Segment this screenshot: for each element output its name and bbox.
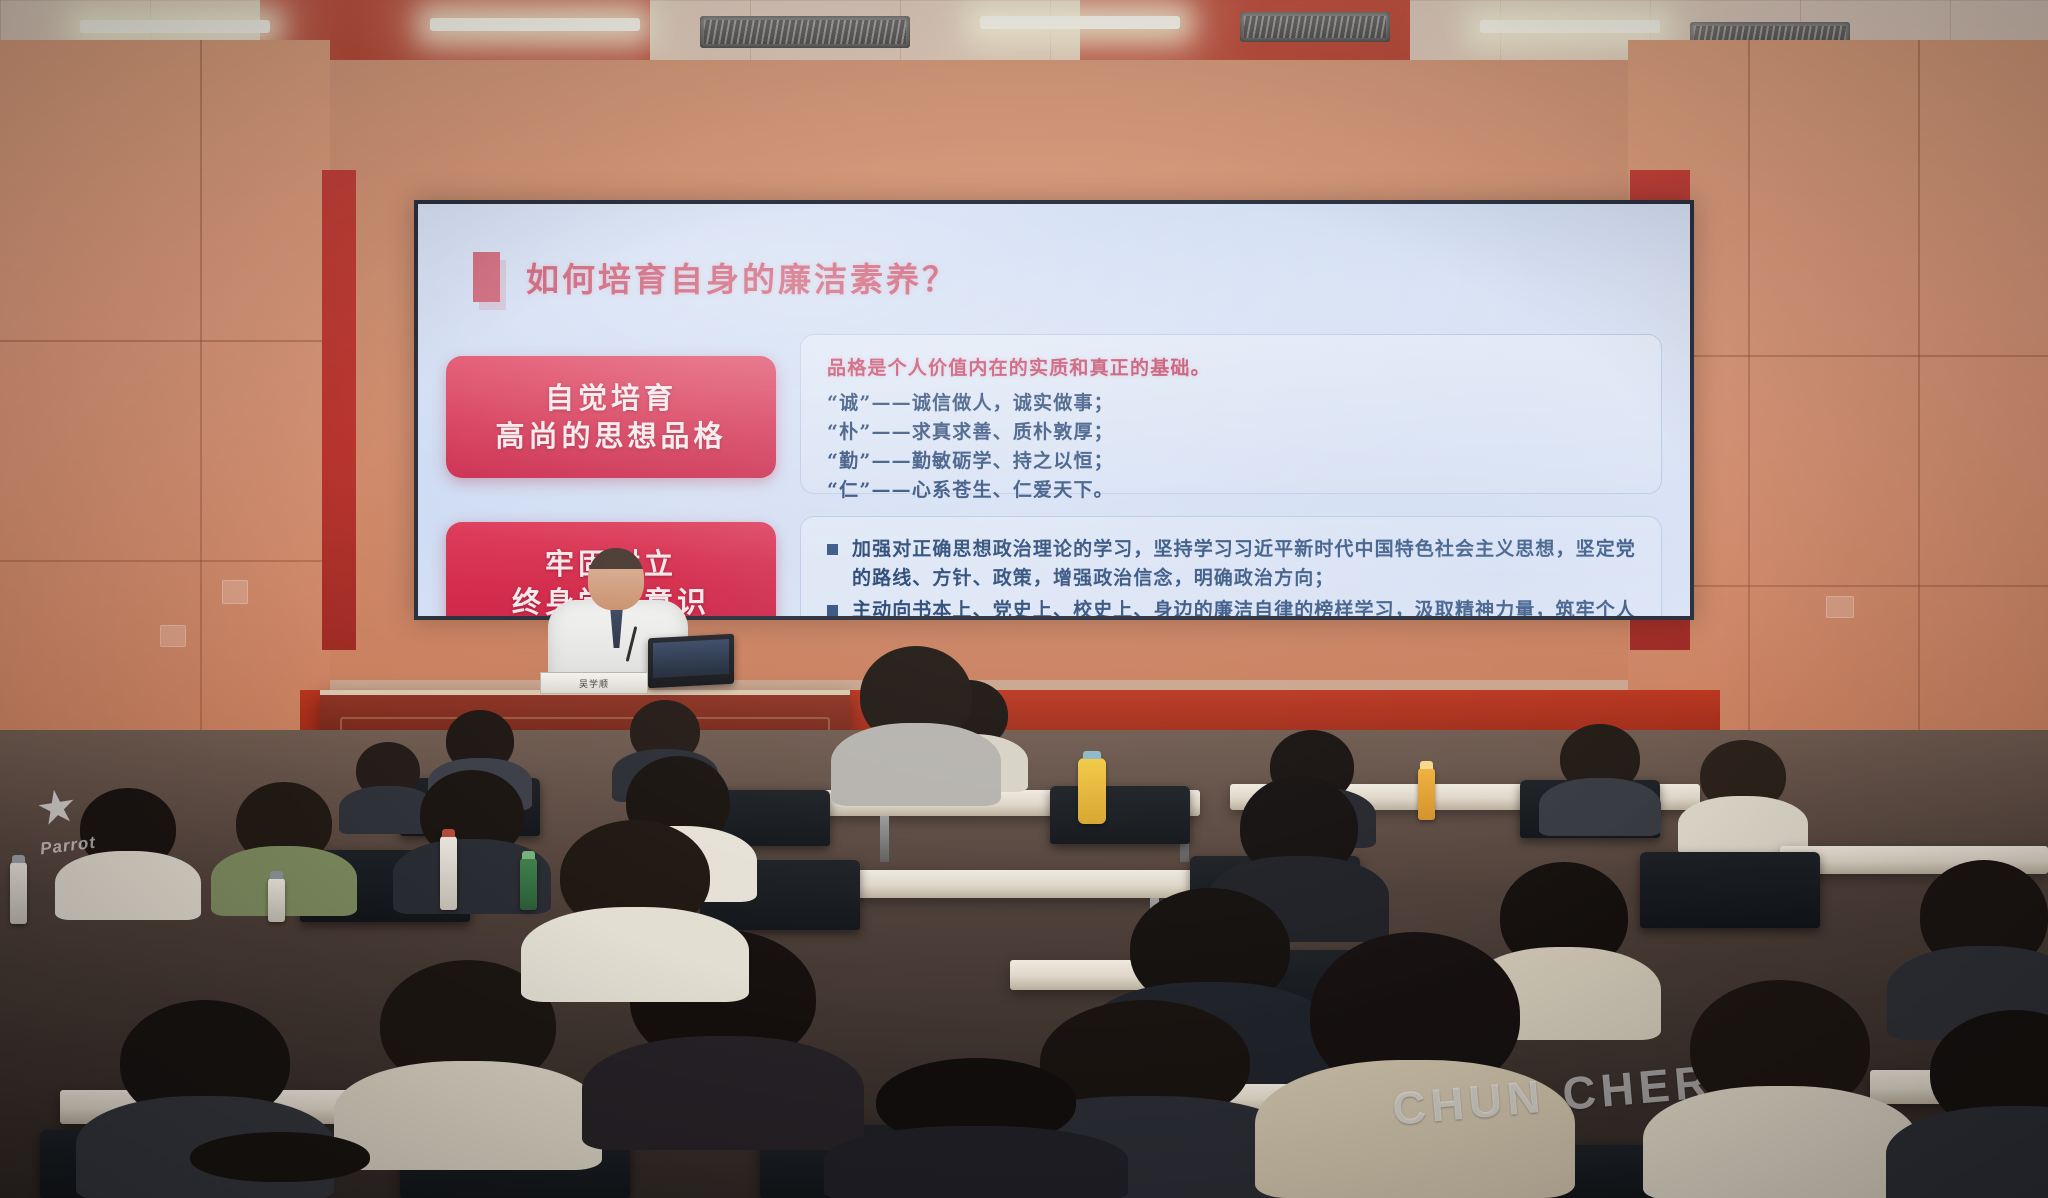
bottle-cap — [270, 871, 283, 879]
water-bottle — [440, 836, 457, 910]
wall-outlet — [1826, 596, 1854, 618]
water-bottle — [520, 858, 537, 910]
chip-1-line-2: 高尚的思想品格 — [495, 417, 726, 455]
person-shoulders — [1539, 778, 1661, 836]
audience-person — [356, 742, 420, 834]
slide-title: 如何培育自身的廉洁素养？ — [526, 253, 958, 301]
wall-seam — [0, 340, 330, 342]
audience-person — [190, 1132, 370, 1198]
ceiling-vent-icon — [1240, 12, 1390, 42]
water-bottle — [1078, 758, 1106, 824]
laptop-icon — [648, 634, 734, 689]
card-1-line: “仁”——心系苍生、仁爱天下。 — [827, 476, 1639, 505]
slide-card-bullets: 加强对正确思想政治理论的学习，坚持学习习近平新时代中国特色社会主义思想，坚定党的… — [800, 516, 1662, 616]
bottle-cap — [1420, 761, 1433, 769]
slide-bullet-text: 加强对正确思想政治理论的学习，坚持学习习近平新时代中国特色社会主义思想，坚定党的… — [852, 535, 1639, 592]
person-shoulders — [831, 723, 1001, 806]
audience-person — [1310, 932, 1520, 1198]
slide-bullet: 加强对正确思想政治理论的学习，坚持学习习近平新时代中国特色社会主义思想，坚定党的… — [827, 535, 1639, 592]
ceiling-light — [430, 18, 640, 31]
left-wall — [0, 40, 330, 740]
speaker-head — [588, 548, 644, 610]
audience-person — [860, 646, 972, 806]
chip-1-line-1: 自觉培育 — [545, 379, 677, 417]
bottle-cap — [442, 829, 455, 837]
wall-seam — [0, 560, 330, 562]
card-1-line: “朴”——求真求善、质朴敦厚； — [827, 418, 1639, 447]
water-bottle — [268, 878, 285, 922]
wall-red-accent-left — [322, 170, 356, 650]
wall-outlet — [222, 580, 248, 604]
person-shoulders — [334, 1061, 602, 1170]
card-1-lead: 品格是个人价值内在的实质和真正的基础。 — [827, 353, 1639, 380]
person-shoulders — [1643, 1086, 1917, 1198]
audience-person — [1560, 724, 1640, 836]
slide-bullet-text: 主动向书本上、党史上、校史上、身边的廉洁自律的榜样学习，汲取精神力量，筑牢个人的… — [852, 596, 1639, 616]
podium-nameplate: 吴学顺 — [540, 672, 648, 694]
slide-title-row: 如何培育自身的廉洁素养？ — [473, 252, 958, 302]
slide-bullet: 主动向书本上、党史上、校史上、身边的廉洁自律的榜样学习，汲取精神力量，筑牢个人的… — [827, 596, 1639, 616]
wall-outlet — [160, 625, 186, 647]
water-bottle — [10, 862, 27, 924]
wall-seam — [1918, 40, 1920, 740]
audience-person — [560, 820, 710, 1002]
audience-person — [876, 1058, 1076, 1198]
sweater-star-icon: ★ — [32, 777, 81, 837]
wall-seam — [1748, 40, 1750, 740]
ceiling-vent-icon — [700, 16, 910, 48]
card-1-line: “诚”——诚信做人，诚实做事； — [827, 389, 1639, 418]
audience-person — [420, 770, 524, 914]
title-accent-square-icon — [473, 252, 500, 302]
person-shoulders — [521, 907, 749, 1002]
person-shoulders — [824, 1126, 1128, 1198]
water-bottle — [1418, 768, 1435, 820]
card-1-line: “勤”——勤敏砺学、持之以恒； — [827, 447, 1639, 476]
audience-person — [1700, 740, 1786, 856]
desk-leg — [880, 816, 889, 862]
lecture-hall-photo: 如何培育自身的廉洁素养？ 自觉培育 高尚的思想品格 牢固树立 终身学习意识 品格… — [0, 0, 2048, 1198]
person-shoulders — [55, 851, 201, 920]
audience-person — [80, 788, 176, 920]
chair-back — [1640, 852, 1820, 928]
chair-back — [1050, 786, 1190, 844]
slide-card-virtues: 品格是个人价值内在的实质和真正的基础。 “诚”——诚信做人，诚实做事； “朴”—… — [800, 334, 1662, 494]
audience-person — [1930, 1010, 2048, 1198]
slide-chip-1: 自觉培育 高尚的思想品格 — [446, 356, 776, 478]
ceiling-light — [80, 20, 270, 33]
ceiling-light — [980, 16, 1180, 29]
bottle-cap — [1083, 751, 1101, 759]
bottle-cap — [12, 855, 25, 863]
person-shoulders — [582, 1036, 865, 1150]
bottle-cap — [522, 851, 535, 859]
audience-person — [1690, 980, 1870, 1198]
ceiling-light — [1480, 20, 1660, 33]
square-bullet-icon — [827, 544, 838, 555]
wall-seam — [200, 40, 202, 740]
person-head — [190, 1132, 370, 1182]
square-bullet-icon — [827, 605, 838, 616]
